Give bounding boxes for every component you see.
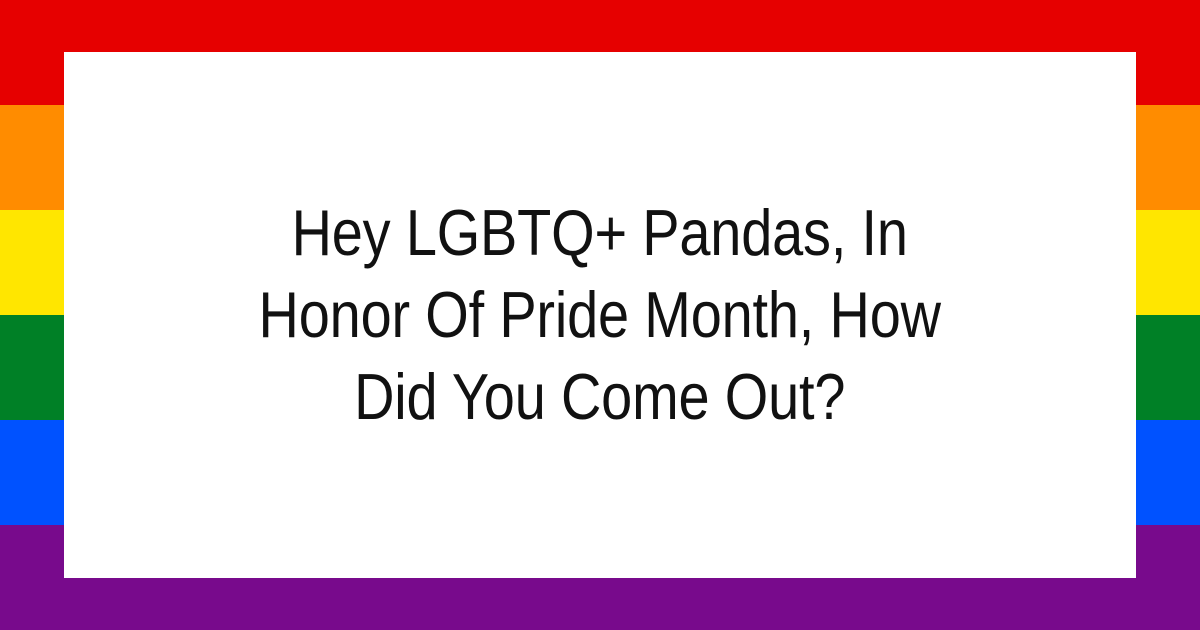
- headline-line-2: Honor Of Pride Month, How: [259, 274, 941, 356]
- headline-line-1: Hey LGBTQ+ Pandas, In: [259, 192, 941, 274]
- page-title: Hey LGBTQ+ Pandas, In Honor Of Pride Mon…: [249, 192, 952, 438]
- pride-banner-canvas: Hey LGBTQ+ Pandas, In Honor Of Pride Mon…: [0, 0, 1200, 630]
- headline-card: Hey LGBTQ+ Pandas, In Honor Of Pride Mon…: [64, 52, 1136, 578]
- headline-line-3: Did You Come Out?: [259, 356, 941, 438]
